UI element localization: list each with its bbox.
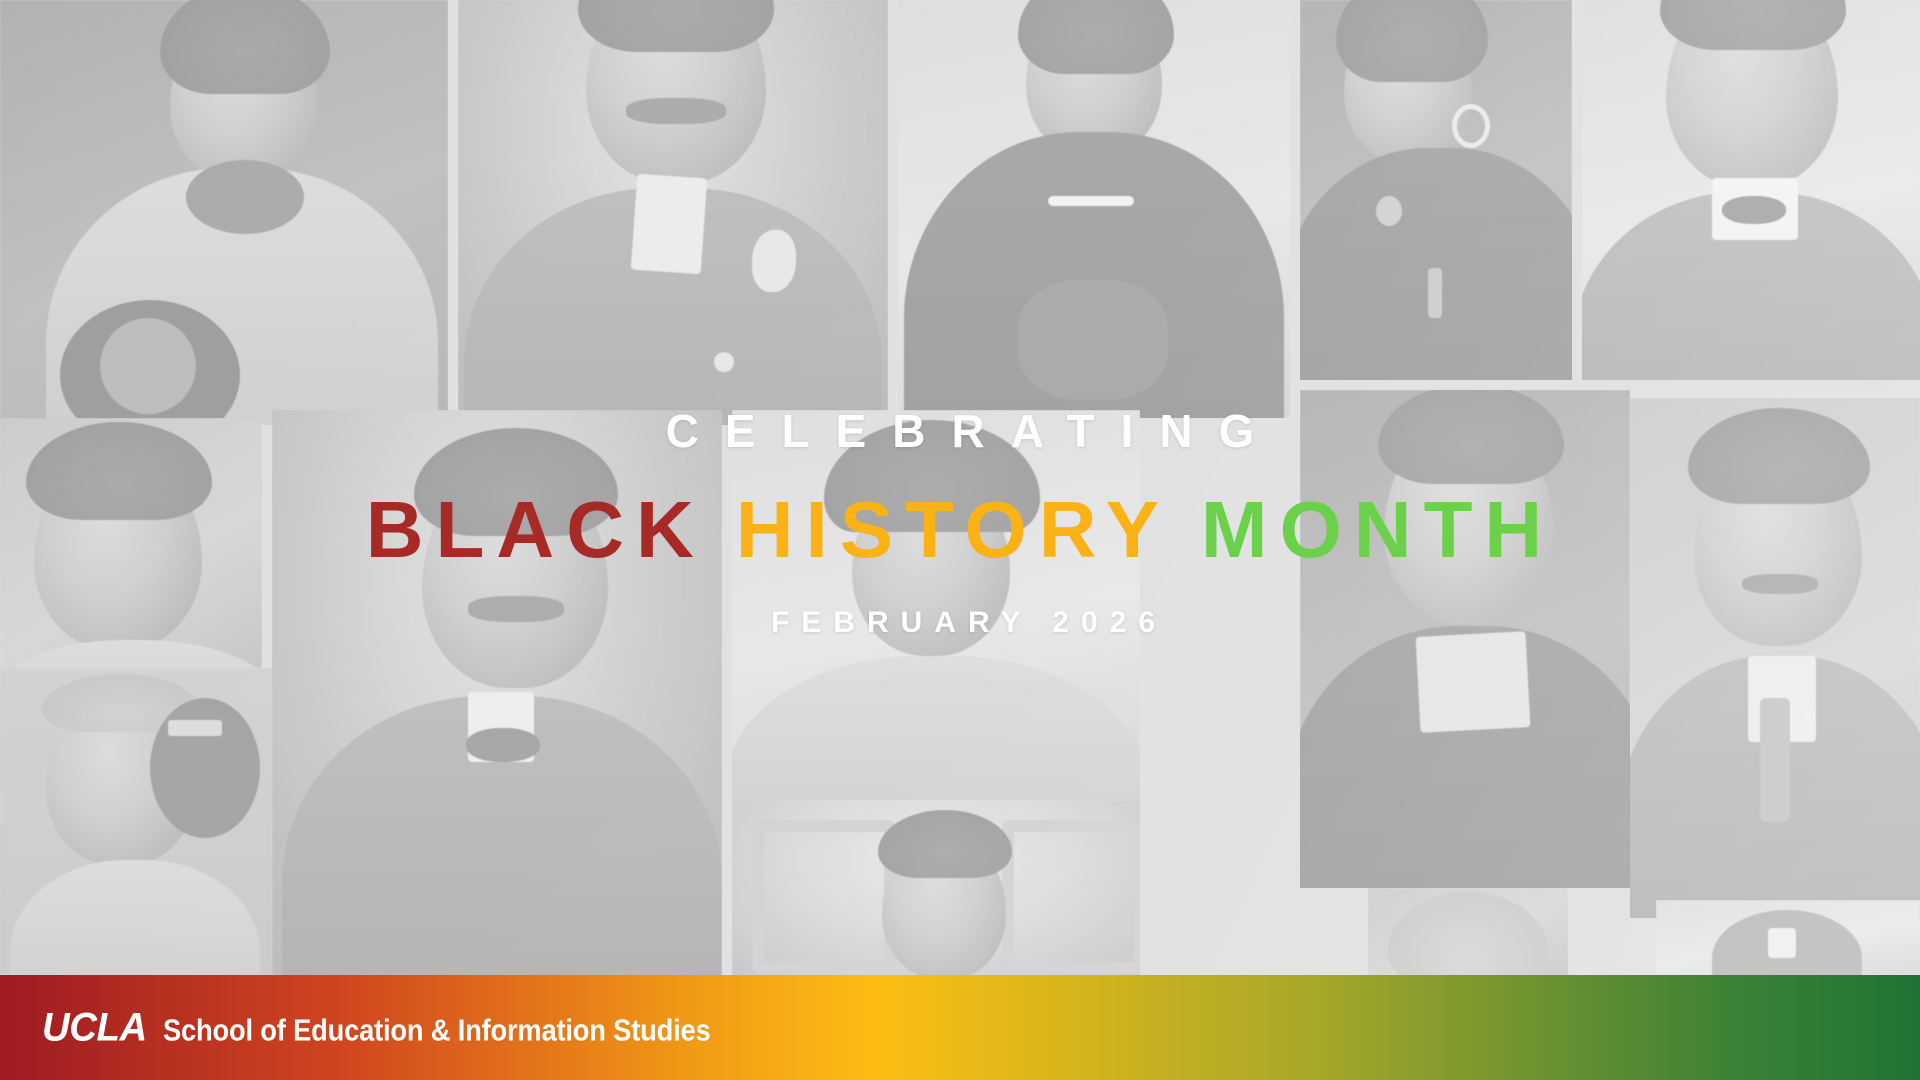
brand-banner: UCLA School of Education & Information S… [0, 975, 1920, 1080]
ucla-wordmark: UCLA [42, 1005, 147, 1050]
black-history-month-poster: CELEBRATING BLACKHISTORYMONTH FEBRUARY 2… [0, 0, 1920, 1080]
photo-poet-portrait [1300, 0, 1572, 380]
photo-scholar-portrait [272, 410, 722, 975]
photo-boxer-portrait [0, 418, 262, 668]
photo-astronaut-portrait [0, 0, 448, 425]
photo-musician-portrait [1300, 390, 1630, 888]
photo-collage [0, 0, 1920, 975]
ucla-logo: UCLA School of Education & Information S… [42, 1005, 785, 1050]
photo-athlete-portrait [1656, 900, 1920, 975]
photo-headwrap-portrait [1368, 888, 1568, 975]
photo-civil-rights-leader-portrait [1630, 398, 1920, 918]
photo-scientist-portrait [458, 0, 888, 425]
photo-artist-portrait [732, 800, 1140, 975]
photo-elder-portrait [0, 668, 272, 975]
photo-journalist-portrait [898, 0, 1290, 418]
photo-educator-portrait [1582, 0, 1920, 380]
school-name: School of Education & Information Studie… [163, 1012, 710, 1048]
photo-author-portrait [732, 410, 1140, 800]
